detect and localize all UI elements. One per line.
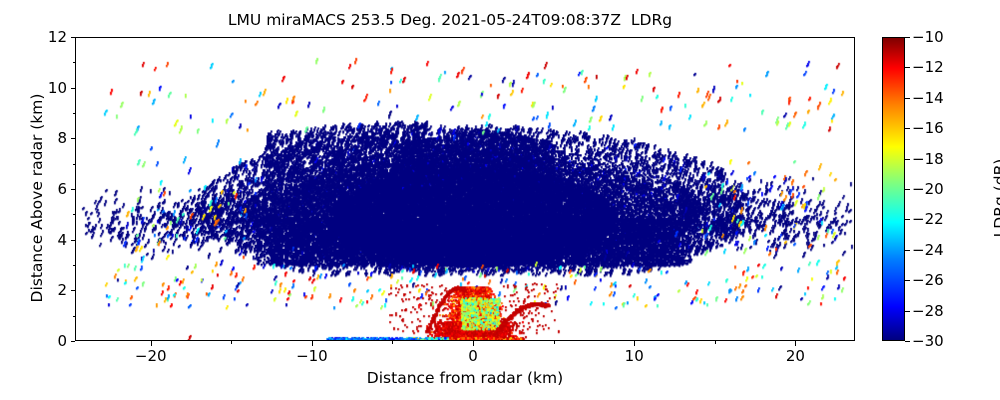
colorbar-tick-label: −28 [912, 302, 944, 320]
colorbar-tick [905, 128, 910, 129]
colorbar-gradient [882, 37, 905, 341]
y-tick [71, 341, 76, 342]
colorbar-tick-label: −30 [912, 332, 944, 350]
colorbar-tick-label: −14 [912, 89, 944, 107]
x-tick [473, 341, 474, 346]
y-tick-label: 2 [57, 281, 67, 299]
y-tick-label: 4 [57, 231, 67, 249]
colorbar-tick-label: −10 [912, 28, 944, 46]
scatter-data-layer [76, 38, 854, 340]
colorbar-tick-label: −18 [912, 150, 944, 168]
colorbar-tick [905, 311, 910, 312]
colorbar-tick [905, 37, 910, 38]
colorbar-tick [905, 219, 910, 220]
colorbar-tick [905, 159, 910, 160]
x-tick-label: 10 [625, 347, 644, 365]
x-axis-title: Distance from radar (km) [75, 369, 855, 387]
y-tick [71, 189, 76, 190]
y-axis-title: Distance Above radar (km) [28, 48, 46, 348]
x-tick [634, 341, 635, 346]
x-tick [795, 341, 796, 346]
plot-area [75, 37, 855, 341]
y-tick [71, 290, 76, 291]
colorbar-tick [905, 98, 910, 99]
radar-rhi-figure: LMU miraMACS 253.5 Deg. 2021-05-24T09:08… [0, 0, 1000, 400]
colorbar-tick-label: −26 [912, 271, 944, 289]
y-tick-minor [73, 265, 76, 266]
colorbar-tick-label: −16 [912, 119, 944, 137]
y-tick-label: 8 [57, 129, 67, 147]
x-tick-minor [715, 341, 716, 344]
y-tick [71, 88, 76, 89]
y-tick-label: 12 [48, 28, 67, 46]
y-tick-minor [73, 62, 76, 63]
x-tick-label: −10 [296, 347, 328, 365]
colorbar-tick-label: −12 [912, 58, 944, 76]
x-tick [151, 341, 152, 346]
x-tick-label: 20 [786, 347, 805, 365]
y-tick [71, 37, 76, 38]
colorbar-tick [905, 189, 910, 190]
colorbar-tick [905, 250, 910, 251]
chart-title: LMU miraMACS 253.5 Deg. 2021-05-24T09:08… [0, 11, 900, 29]
colorbar-tick [905, 341, 910, 342]
y-tick-minor [73, 164, 76, 165]
y-tick-minor [73, 316, 76, 317]
y-tick [71, 138, 76, 139]
x-tick-label: −20 [135, 347, 167, 365]
colorbar-tick-label: −22 [912, 210, 944, 228]
x-tick-minor [231, 341, 232, 344]
colorbar-tick [905, 67, 910, 68]
y-tick-label: 0 [57, 332, 67, 350]
x-tick-label: 0 [468, 347, 478, 365]
colorbar-tick-label: −20 [912, 180, 944, 198]
y-tick [71, 240, 76, 241]
colorbar-tick [905, 280, 910, 281]
y-tick-minor [73, 113, 76, 114]
x-tick-minor [392, 341, 393, 344]
y-tick-label: 10 [48, 79, 67, 97]
y-tick-label: 6 [57, 180, 67, 198]
y-tick-minor [73, 214, 76, 215]
colorbar-tick-label: −24 [912, 241, 944, 259]
x-tick-minor [554, 341, 555, 344]
x-tick [312, 341, 313, 346]
colorbar-title: LDRg (dB) [991, 68, 1000, 328]
